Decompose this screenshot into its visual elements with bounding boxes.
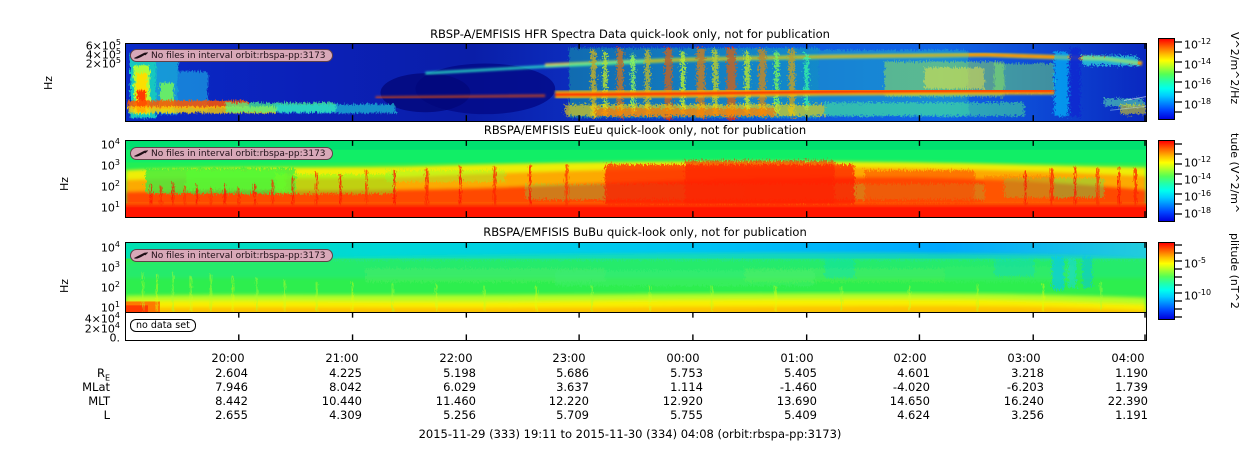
ephemeris-value: 5.755	[643, 408, 703, 422]
panel-2-no-files-annotation[interactable]: No files in interval orbit:rbspa-pp:3173	[130, 147, 333, 160]
ephemeris-value: -1.460	[757, 380, 817, 394]
time-tick-2: 22:00	[426, 351, 486, 365]
panel-4-empty-plot[interactable]	[125, 312, 1147, 341]
ephemeris-value: 4.225	[302, 366, 362, 380]
ephemeris-value: 5.256	[416, 408, 476, 422]
figure-caption: 2015-11-29 (333) 19:11 to 2015-11-30 (33…	[385, 427, 875, 441]
time-tick-5: 01:00	[767, 351, 827, 365]
panel-2-title: RBSPA/EMFISIS EuEu quick-look only, not …	[420, 123, 870, 137]
panel-1-no-files-text: No files in interval orbit:rbspa-pp:3173	[151, 51, 326, 61]
ephemeris-value: 5.198	[416, 366, 476, 380]
ephemeris-value: 1.739	[1088, 380, 1148, 394]
ephemeris-value: -6.203	[984, 380, 1044, 394]
panel-2-colorbar-tick-3: 10-18	[1184, 206, 1211, 221]
time-tick-0: 20:00	[198, 351, 258, 365]
ephemeris-value: 3.637	[529, 380, 589, 394]
panel-1-no-files-annotation[interactable]: No files in interval orbit:rbspa-pp:3173	[130, 49, 333, 62]
ephemeris-value: 5.405	[757, 366, 817, 380]
panel-2-colorbar-label: tude (V^2/m^	[1228, 133, 1241, 228]
ephemeris-value: 1.114	[643, 380, 703, 394]
ephemeris-value: 3.218	[984, 366, 1044, 380]
ephemeris-value: 2.655	[188, 408, 248, 422]
panel-3-title: RBSPA/EMFISIS BuBu quick-look only, not …	[420, 225, 870, 239]
panel-1-colorbar-tick-0: 10-12	[1184, 37, 1211, 52]
panel-2-ytick-1: 103	[70, 158, 120, 173]
ephemeris-row-label-2: MLT	[20, 394, 110, 408]
ephemeris-row-label-3: L	[20, 408, 110, 422]
time-tick-8: 04:00	[1098, 351, 1158, 365]
panel-1-colorbar-label: V^2/m^2/Hz	[1228, 32, 1241, 127]
ephemeris-value: 8.042	[302, 380, 362, 394]
panel-2-no-files-text: No files in interval orbit:rbspa-pp:3173	[151, 149, 326, 159]
panel-3-ytick-2: 102	[70, 280, 120, 295]
ephemeris-value: 16.240	[984, 394, 1044, 408]
figure-canvas: RBSP-A/EMFISIS HFR Spectra Data quick-lo…	[0, 0, 1250, 449]
no-data-set-text: no data set	[136, 320, 190, 331]
panel-1-colorbar-ticks	[1175, 38, 1182, 120]
panel-3-colorbar	[1158, 242, 1175, 320]
panel-1-colorbar	[1158, 38, 1175, 120]
ephemeris-value: 5.709	[529, 408, 589, 422]
panel-3-ytick-0: 104	[70, 240, 120, 255]
ephemeris-value: 4.309	[302, 408, 362, 422]
ephemeris-value: 5.409	[757, 408, 817, 422]
panel-1-ytick-2: 2×105	[56, 56, 121, 71]
panel-2-ytick-3: 101	[70, 200, 120, 215]
panel-2-colorbar	[1158, 140, 1175, 222]
panel-2-ytick-0: 104	[70, 137, 120, 152]
panel-4-ytick-2: 0.	[56, 330, 120, 345]
ephemeris-value: 14.650	[870, 394, 930, 408]
panel-2-colorbar-tick-1: 10-14	[1184, 172, 1211, 187]
panel-1-ylabel: Hz	[42, 64, 55, 90]
panel-3-ytick-1: 103	[70, 260, 120, 275]
ephemeris-value: 10.440	[302, 394, 362, 408]
panel-2-colorbar-tick-2: 10-16	[1184, 189, 1211, 204]
panel-1-title: RBSP-A/EMFISIS HFR Spectra Data quick-lo…	[380, 27, 880, 41]
ephemeris-value: 8.442	[188, 394, 248, 408]
ephemeris-value: 12.220	[529, 394, 589, 408]
panel-2-colorbar-tick-0: 10-12	[1184, 155, 1211, 170]
ephemeris-value: 4.601	[870, 366, 930, 380]
no-data-set-annotation[interactable]: no data set	[130, 319, 196, 332]
panel-3-no-files-annotation[interactable]: No files in interval orbit:rbspa-pp:3173	[130, 249, 333, 262]
ephemeris-row-label-1: MLat	[20, 380, 110, 394]
ephemeris-value: 12.920	[643, 394, 703, 408]
ephemeris-value: 2.604	[188, 366, 248, 380]
swoosh-icon	[134, 150, 148, 158]
ephemeris-value: 5.753	[643, 366, 703, 380]
time-tick-4: 00:00	[653, 351, 713, 365]
ephemeris-value: 13.690	[757, 394, 817, 408]
panel-3-colorbar-ticks	[1175, 242, 1182, 320]
panel-1-colorbar-tick-3: 10-18	[1184, 97, 1211, 112]
ephemeris-value: 7.946	[188, 380, 248, 394]
swoosh-icon	[134, 52, 148, 60]
panel-3-colorbar-label: plitude (nT^2	[1228, 233, 1241, 328]
panel-3-colorbar-tick-0: 10-5	[1184, 256, 1206, 271]
panel-3-no-files-text: No files in interval orbit:rbspa-pp:3173	[151, 251, 326, 261]
ephemeris-value: 11.460	[416, 394, 476, 408]
time-tick-7: 03:00	[994, 351, 1054, 365]
time-tick-3: 23:00	[539, 351, 599, 365]
time-tick-1: 21:00	[312, 351, 372, 365]
ephemeris-value: 1.190	[1088, 366, 1148, 380]
ephemeris-value: -4.020	[870, 380, 930, 394]
ephemeris-value: 3.256	[984, 408, 1044, 422]
ephemeris-value: 22.390	[1088, 394, 1148, 408]
swoosh-icon	[134, 252, 148, 260]
time-tick-6: 02:00	[880, 351, 940, 365]
panel-2-colorbar-ticks	[1175, 140, 1182, 222]
ephemeris-value: 6.029	[416, 380, 476, 394]
panel-3-colorbar-tick-1: 10-10	[1184, 288, 1211, 303]
panel-1-colorbar-tick-2: 10-16	[1184, 77, 1211, 92]
ephemeris-value: 1.191	[1088, 408, 1148, 422]
panel-2-ytick-2: 102	[70, 179, 120, 194]
ephemeris-value: 4.624	[870, 408, 930, 422]
ephemeris-value: 5.686	[529, 366, 589, 380]
panel-1-colorbar-tick-1: 10-14	[1184, 57, 1211, 72]
